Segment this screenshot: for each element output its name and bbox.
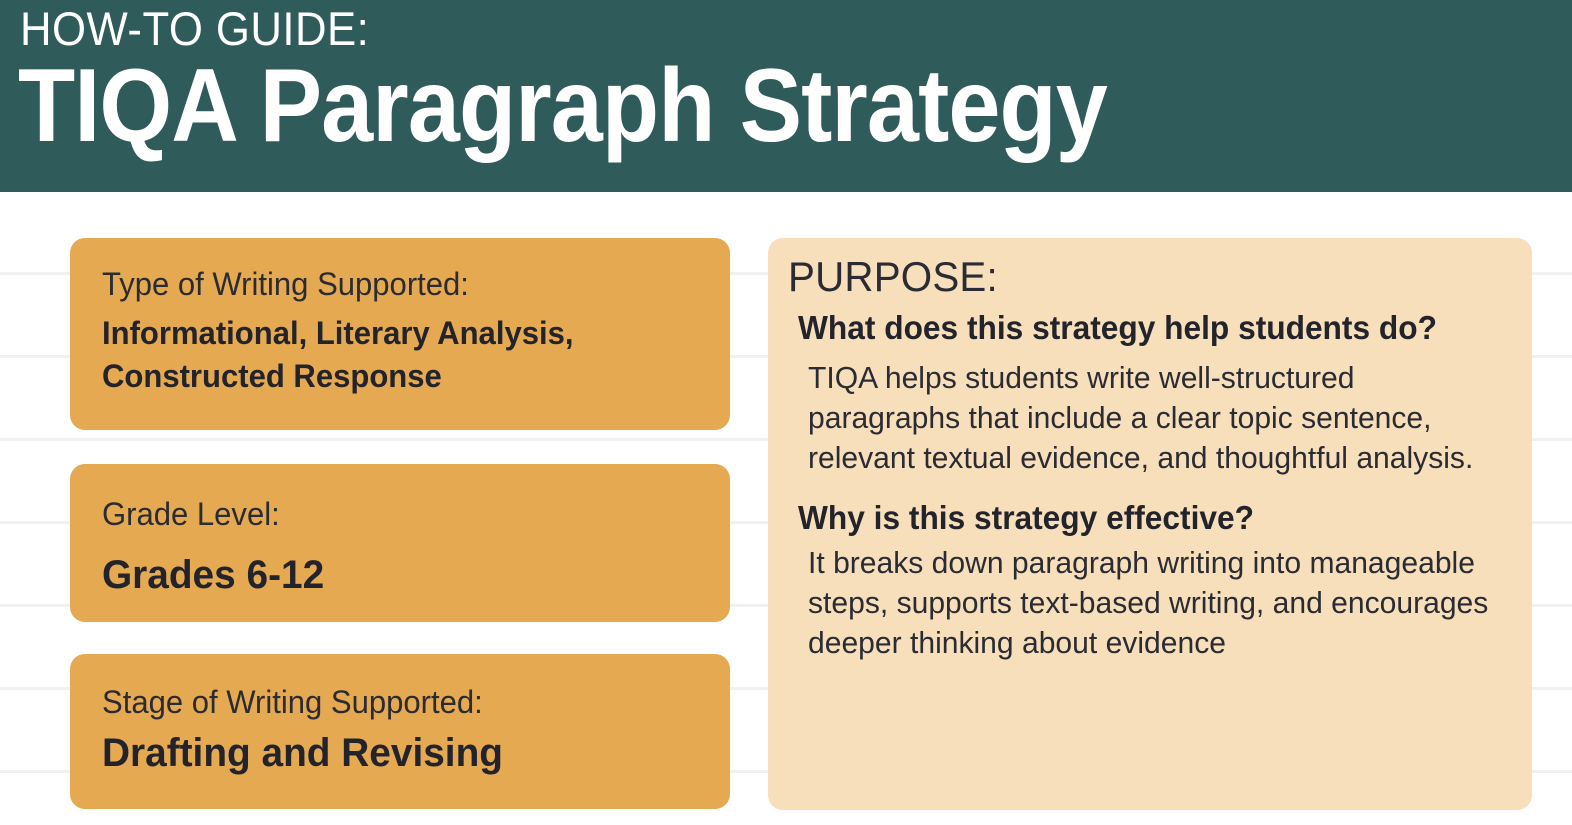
info-card-label: Grade Level:	[102, 494, 680, 536]
purpose-question-block: Why is this strategy effective? It break…	[798, 496, 1514, 663]
purpose-heading: PURPOSE:	[788, 252, 1485, 302]
purpose-question-block: What does this strategy help students do…	[798, 306, 1514, 479]
header-eyebrow: HOW-TO GUIDE:	[20, 4, 369, 53]
purpose-panel: PURPOSE: What does this strategy help st…	[768, 238, 1532, 810]
page-header: HOW-TO GUIDE: TIQA Paragraph Strategy	[0, 0, 1572, 192]
info-card-label: Type of Writing Supported:	[102, 264, 680, 306]
info-card-label: Stage of Writing Supported:	[102, 682, 680, 724]
purpose-question-body: TIQA helps students write well-structure…	[808, 358, 1493, 478]
purpose-question-body: It breaks down paragraph writing into ma…	[808, 543, 1493, 663]
page-title: TIQA Paragraph Strategy	[18, 48, 1107, 164]
info-card-grade-level: Grade Level: Grades 6-12	[70, 464, 730, 622]
info-card-type-of-writing: Type of Writing Supported: Informational…	[70, 238, 730, 430]
info-card-stage-of-writing: Stage of Writing Supported: Drafting and…	[70, 654, 730, 809]
how-to-guide-page: HOW-TO GUIDE: TIQA Paragraph Strategy Ty…	[0, 0, 1572, 825]
purpose-question-title: Why is this strategy effective?	[798, 496, 1485, 541]
purpose-question-title: What does this strategy help students do…	[798, 306, 1485, 351]
info-card-value: Grades 6-12	[102, 548, 680, 602]
info-card-value: Drafting and Revising	[102, 726, 680, 780]
info-card-value: Informational, Literary Analysis, Constr…	[102, 312, 680, 399]
info-card-column: Type of Writing Supported: Informational…	[70, 238, 730, 809]
